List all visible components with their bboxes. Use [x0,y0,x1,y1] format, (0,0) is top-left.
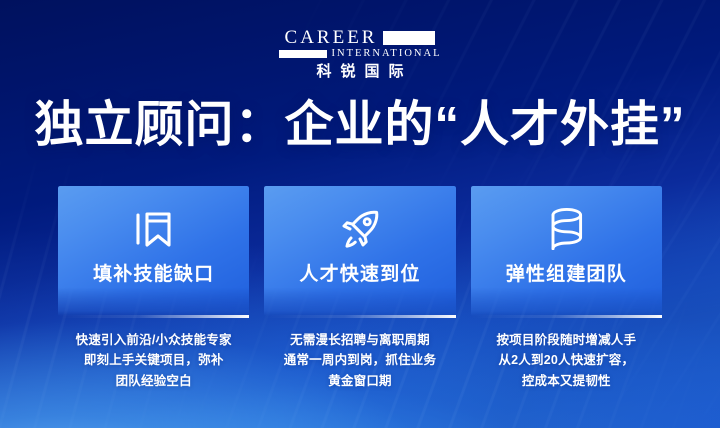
description-line: 即刻上手关键项目，弥补 [58,350,249,370]
description-line: 黄金窗口期 [264,371,455,391]
benefit-card-title: 人才快速到位 [299,265,420,284]
description-line: 从2人到20人快速扩容， [471,350,662,370]
description-line: 无需漫长招聘与离职周期 [264,330,455,350]
logo-line-international: INTERNATIONAL [279,49,442,60]
rocket-icon [334,203,386,255]
description-line: 团队经验空白 [58,371,249,391]
card-divider [264,315,455,318]
description-line: 快速引入前沿/小众技能专家 [58,330,249,350]
benefit-description-fast-talent: 无需漫长招聘与离职周期 通常一周内到岗，抓住业务 黄金窗口期 [264,330,455,391]
page-title: 独立顾问：企业的“人才外挂” [0,98,720,153]
description-line: 通常一周内到岗，抓住业务 [264,350,455,370]
logo-career-text: CAREER [285,28,378,47]
benefit-card-title: 弹性组建团队 [506,265,627,284]
description-line: 按项目阶段随时增减人手 [471,330,662,350]
logo-chinese-name: 科锐国际 [307,64,412,79]
logo-international-text: INTERNATIONAL [332,49,442,60]
logo-bar-left-icon [279,50,327,58]
card-divider [58,315,249,318]
logo-bar-right-icon [383,31,435,45]
logo-line-career: CAREER [285,28,436,47]
description-line: 控成本又提韧性 [471,371,662,391]
card-divider [471,315,662,318]
benefit-card-flexible-team: 弹性组建团队 [471,186,662,316]
benefit-card-fast-talent: 人才快速到位 [264,186,455,316]
card-divider-list [58,315,662,318]
benefit-card-title: 填补技能缺口 [93,265,214,284]
benefit-description-list: 快速引入前沿/小众技能专家 即刻上手关键项目，弥补 团队经验空白 无需漫长招聘与… [58,330,662,391]
benefit-card-list: 填补技能缺口 人才快速到位 [58,186,662,316]
book-bookmark-icon [128,203,180,255]
benefit-description-skill-gap: 快速引入前沿/小众技能专家 即刻上手关键项目，弥补 团队经验空白 [58,330,249,391]
brand-logo: CAREER INTERNATIONAL 科锐国际 [0,28,720,79]
benefit-description-flexible-team: 按项目阶段随时增减人手 从2人到20人快速扩容， 控成本又提韧性 [471,330,662,391]
poster-canvas: CAREER INTERNATIONAL 科锐国际 独立顾问：企业的“人才外挂”… [0,0,720,428]
spring-coil-icon [540,203,592,255]
benefit-card-skill-gap: 填补技能缺口 [58,186,249,316]
